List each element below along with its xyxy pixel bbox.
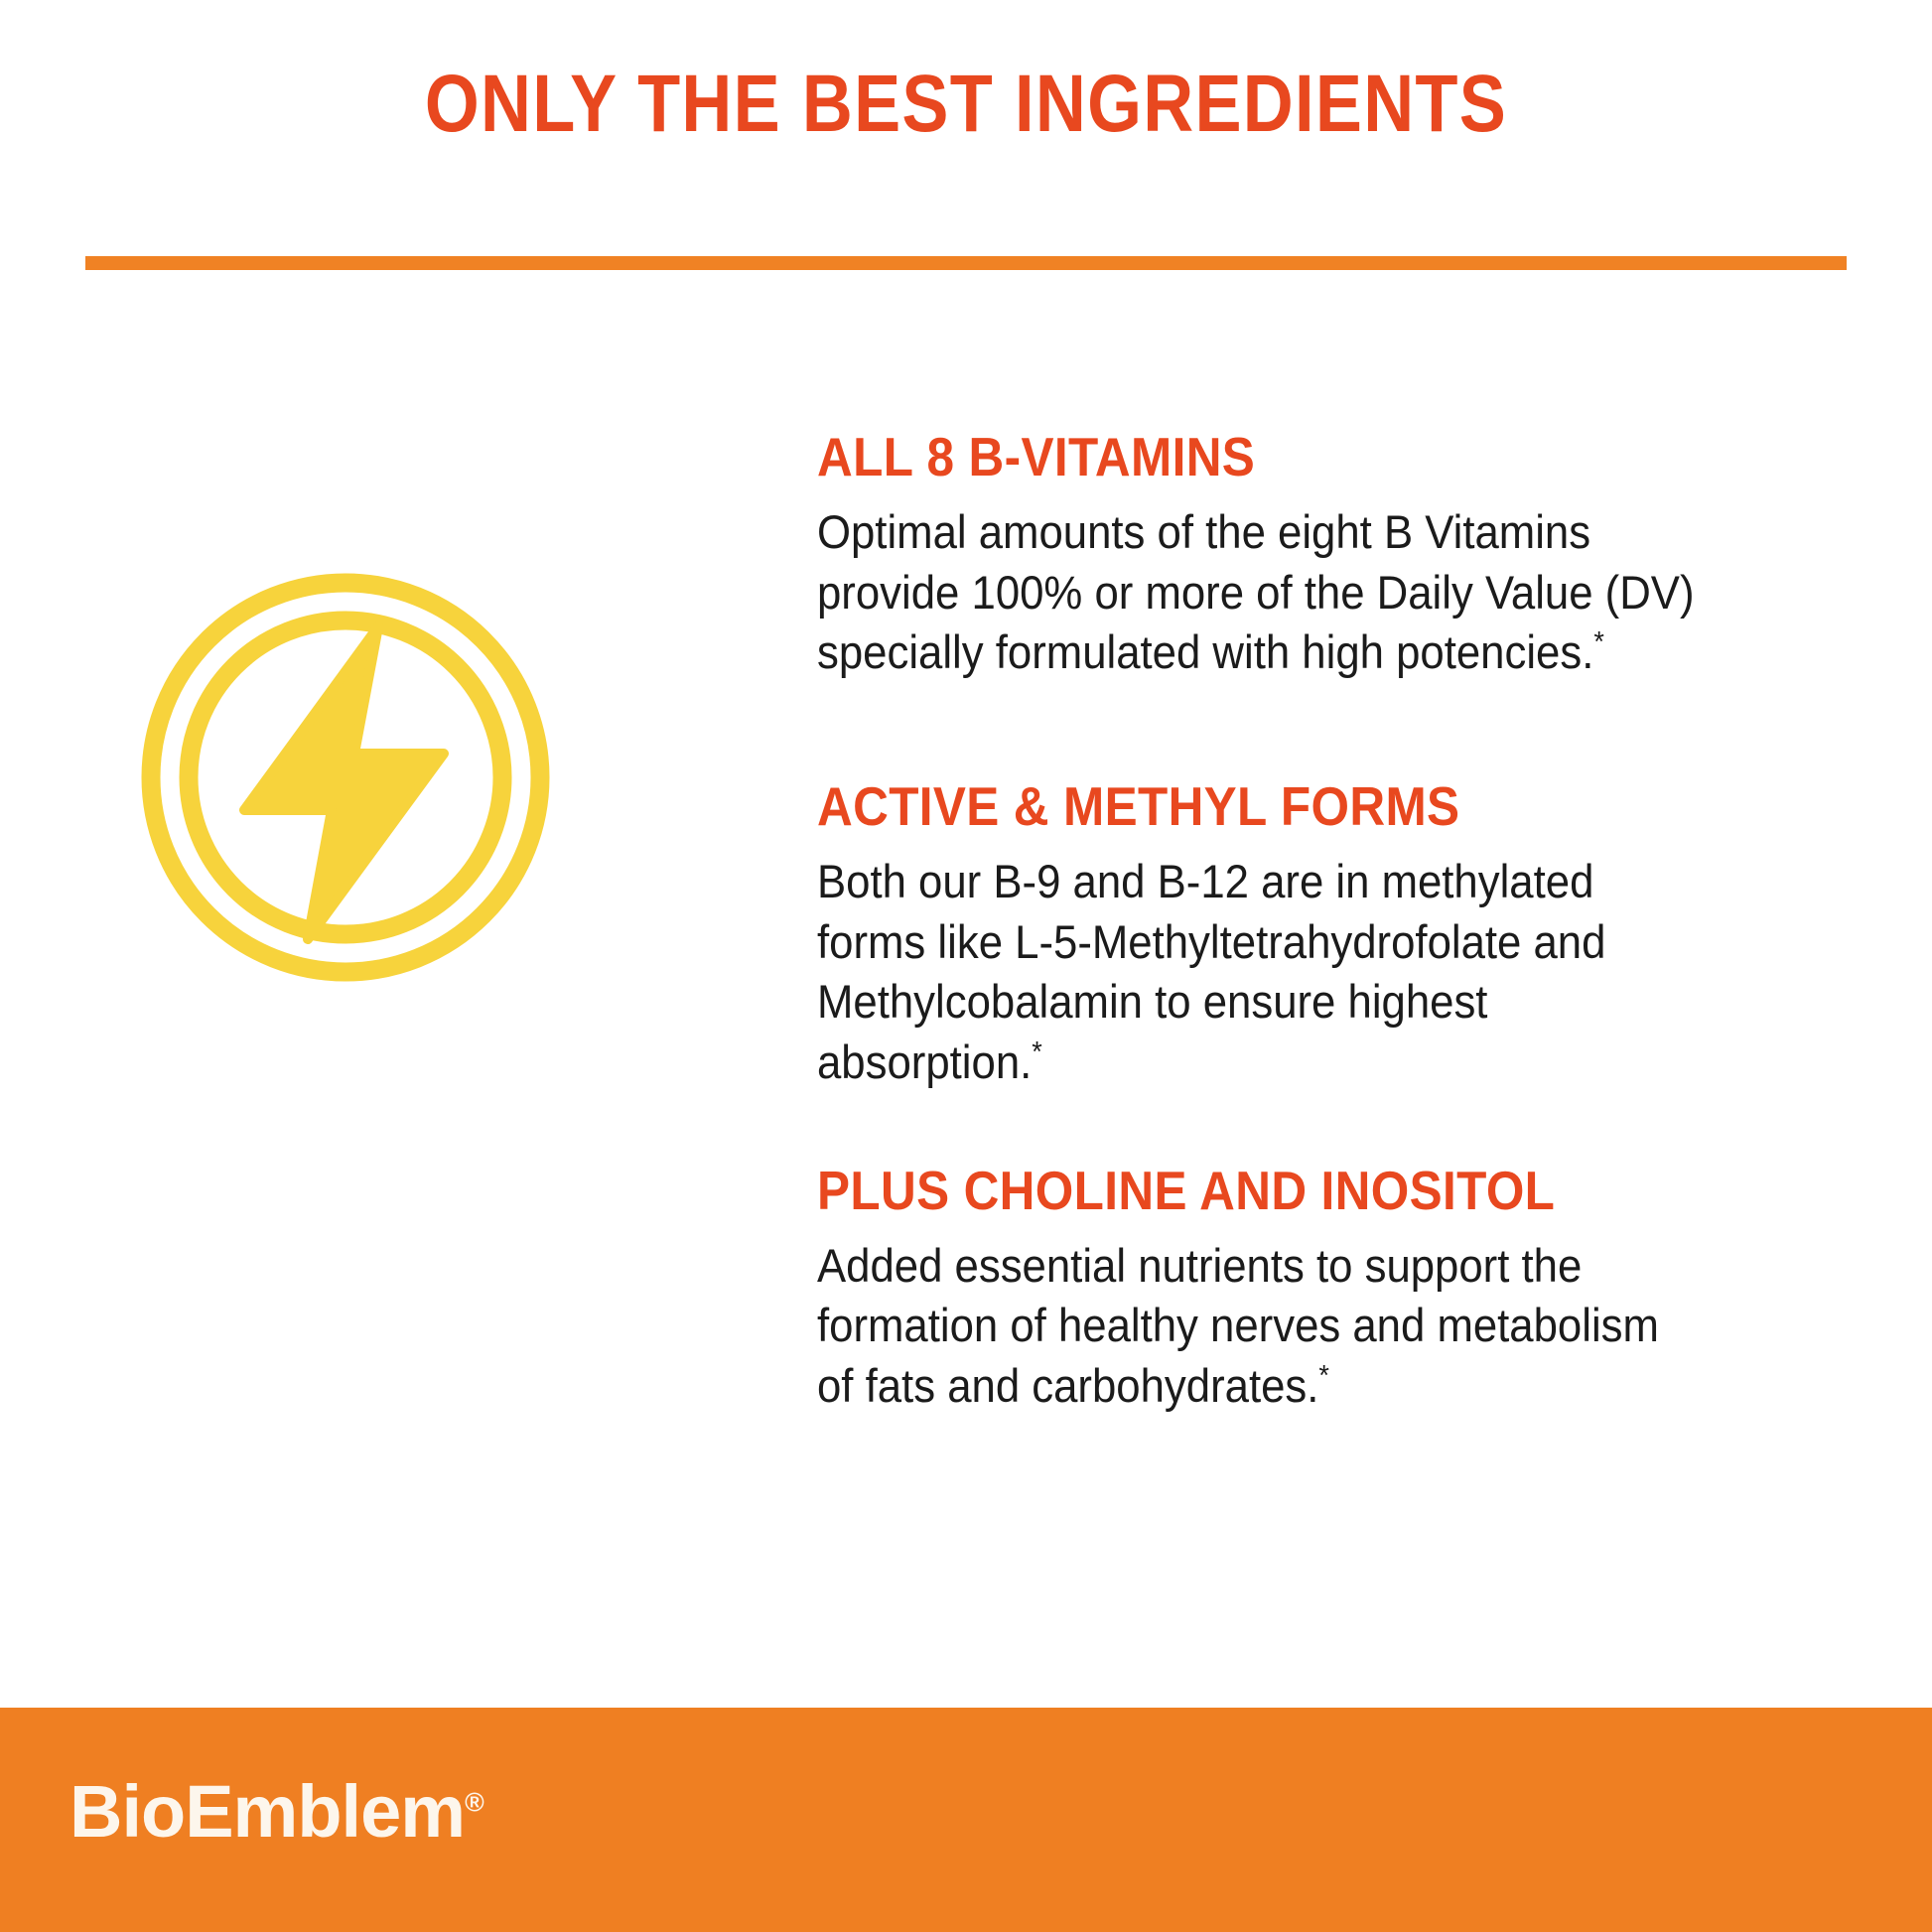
brand-logo: BioEmblem® bbox=[69, 1775, 484, 1849]
footnote-asterisk: * bbox=[1593, 626, 1604, 658]
page-title: ONLY THE BEST INGREDIENTS bbox=[135, 62, 1797, 147]
footer-bar: BioEmblem® bbox=[0, 1708, 1932, 1932]
feature-heading: PLUS CHOLINE AND INOSITOL bbox=[817, 1163, 1675, 1218]
feature-body: Both our B-9 and B-12 are in methylated … bbox=[817, 852, 1704, 1093]
feature-heading: ALL 8 B-VITAMINS bbox=[817, 429, 1675, 484]
lightning-bolt-icon bbox=[137, 569, 554, 986]
title-divider-rule bbox=[85, 256, 1847, 270]
feature-heading: ACTIVE & METHYL FORMS bbox=[817, 778, 1675, 834]
brand-name: BioEmblem bbox=[69, 1770, 465, 1853]
footnote-asterisk: * bbox=[1318, 1360, 1329, 1392]
feature-body-text: Optimal amounts of the eight B Vitamins … bbox=[817, 505, 1695, 678]
feature-body: Added essential nutrients to support the… bbox=[817, 1236, 1704, 1417]
feature-block-all-8-b-vitamins: ALL 8 B-VITAMINS Optimal amounts of the … bbox=[817, 429, 1770, 683]
feature-block-active-methyl-forms: ACTIVE & METHYL FORMS Both our B-9 and B… bbox=[817, 778, 1770, 1093]
feature-body-text: Both our B-9 and B-12 are in methylated … bbox=[817, 855, 1605, 1088]
infographic-page: ONLY THE BEST INGREDIENTS ALL 8 B-VITAMI… bbox=[0, 0, 1932, 1932]
feature-block-plus-choline-inositol: PLUS CHOLINE AND INOSITOL Added essentia… bbox=[817, 1163, 1770, 1417]
feature-list: ALL 8 B-VITAMINS Optimal amounts of the … bbox=[817, 429, 1770, 1417]
feature-body-text: Added essential nutrients to support the… bbox=[817, 1239, 1659, 1412]
registered-trademark-icon: ® bbox=[465, 1788, 484, 1818]
feature-body: Optimal amounts of the eight B Vitamins … bbox=[817, 502, 1704, 683]
footnote-asterisk: * bbox=[1032, 1036, 1042, 1068]
